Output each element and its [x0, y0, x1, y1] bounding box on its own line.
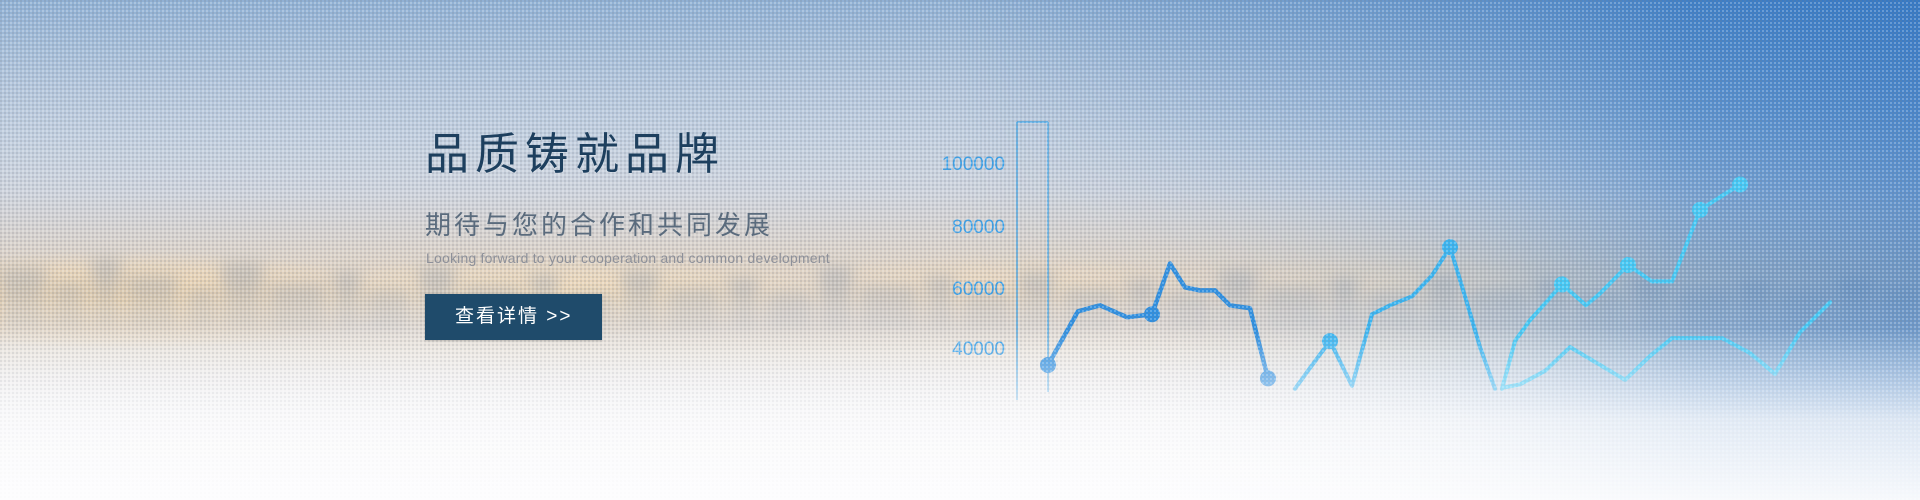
hero-banner: 100000 80000 60000 40000 品质铸就品牌 期待与您的合作和…	[0, 0, 1920, 500]
page-title: 品质铸就品牌	[425, 130, 945, 181]
view-details-button[interactable]: 查看详情 >>	[425, 294, 602, 340]
background-bottom-fade	[0, 0, 1920, 500]
hero-subtitle-cn: 期待与您的合作和共同发展	[425, 205, 945, 242]
hero-subtitle-en: Looking forward to your cooperation and …	[426, 250, 945, 266]
hero-copy: 品质铸就品牌 期待与您的合作和共同发展 Looking forward to y…	[425, 130, 945, 340]
